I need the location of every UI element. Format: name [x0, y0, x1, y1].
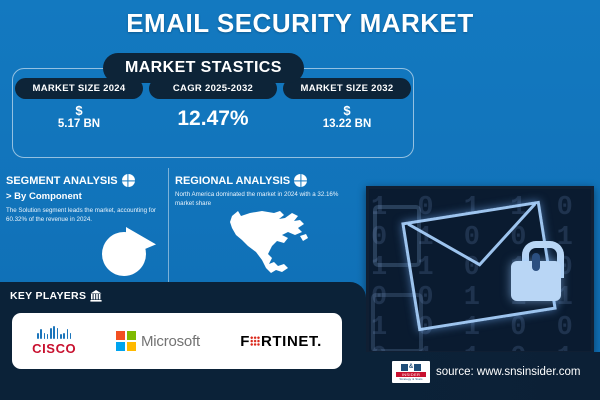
market-statistics-heading: MARKET STASTICS: [103, 53, 304, 83]
hero-image: 1 0 1 1 0 0 1 0 0 1 1 1 0 1 0 0 0 1 1 1 …: [366, 186, 594, 354]
microsoft-logo: Microsoft: [116, 331, 200, 351]
key-players-heading: KEY PLAYERS: [10, 290, 102, 302]
stat-value-cagr: 12.47%: [177, 108, 248, 130]
source-text: source: www.snsinsider.com: [436, 366, 580, 378]
padlock-icon: [511, 241, 561, 301]
key-players-logo-card: CISCO Microsoft F RTINET.: [12, 313, 342, 369]
cisco-logo: CISCO: [32, 326, 76, 356]
infographic-root: EMAIL SECURITY MARKET MARKET STASTICS MA…: [0, 0, 600, 400]
fortinet-logo: F RTINET.: [240, 333, 322, 350]
microsoft-logo-text: Microsoft: [141, 333, 200, 350]
stat-value-market-size-2024: $ 5.17 BN: [58, 104, 100, 130]
cisco-bars-icon: [37, 326, 71, 339]
padlock-keyhole: [532, 253, 540, 271]
sns-logo-ampersand: &: [409, 364, 413, 370]
sns-logo-block: [401, 364, 408, 371]
currency-symbol-2032: $: [323, 104, 372, 118]
stat-label-market-size-2032: MARKET SIZE 2032: [283, 78, 411, 99]
segment-analysis-description: The Solution segment leads the market, a…: [0, 202, 168, 225]
segment-analysis-heading: SEGMENT ANALYSIS: [0, 170, 168, 187]
market-statistics-row: MARKET SIZE 2024 $ 5.17 BN CAGR 2025-203…: [12, 78, 414, 156]
key-players-heading-text: KEY PLAYERS: [10, 290, 86, 302]
globe-icon: [294, 174, 307, 187]
fortinet-logo-text-after: RTINET.: [261, 333, 322, 350]
page-title: EMAIL SECURITY MARKET: [0, 8, 600, 39]
fortinet-logo-text-before: F: [240, 333, 250, 350]
cisco-logo-text: CISCO: [32, 341, 76, 356]
north-america-map: [222, 202, 318, 282]
sns-logo-block: [414, 364, 421, 371]
stat-market-size-2032: MARKET SIZE 2032 $ 13.22 BN: [283, 78, 411, 130]
amount-2024: 5.17 BN: [58, 118, 100, 130]
microsoft-squares-icon: [116, 331, 136, 351]
regional-analysis-heading-text: REGIONAL ANALYSIS: [175, 175, 290, 187]
globe-icon: [122, 174, 135, 187]
segment-analysis-heading-text: SEGMENT ANALYSIS: [6, 175, 118, 187]
regional-analysis-heading: REGIONAL ANALYSIS: [169, 170, 364, 187]
fortinet-dot-icon: [250, 336, 260, 346]
stat-value-market-size-2032: $ 13.22 BN: [323, 104, 372, 130]
segment-analysis-subheading: > By Component: [0, 187, 168, 202]
source-attribution: & INSIDER Strategy & Stats source: www.s…: [392, 361, 580, 383]
pie-chart-icon: [100, 226, 162, 282]
sns-logo-top-row: &: [401, 364, 421, 371]
currency-symbol-2024: $: [58, 104, 100, 118]
stat-market-size-2024: MARKET SIZE 2024 $ 5.17 BN: [15, 78, 143, 130]
amount-2032: 13.22 BN: [323, 118, 372, 130]
sns-insider-logo: & INSIDER Strategy & Stats: [392, 361, 430, 383]
sns-logo-caption: Strategy & Stats: [399, 377, 422, 381]
bank-icon: [90, 290, 102, 302]
stat-cagr: CAGR 2025-2032 12.47%: [149, 78, 277, 130]
